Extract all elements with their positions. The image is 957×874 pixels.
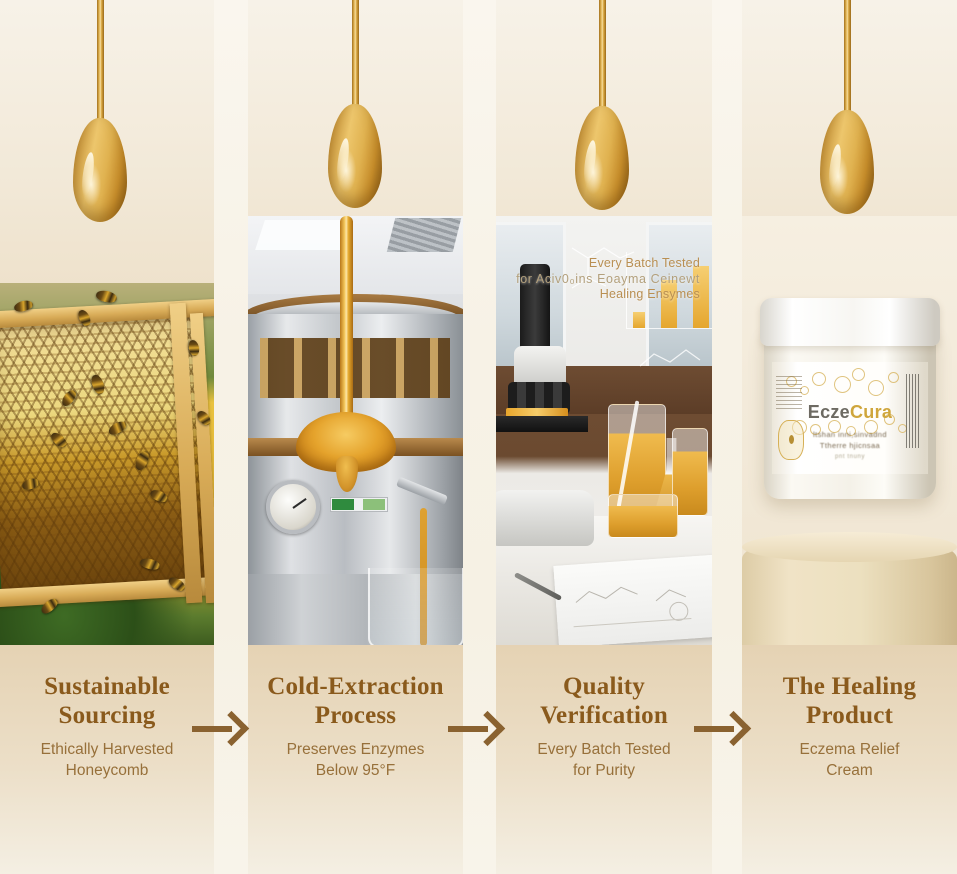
overlay-line-1: Every Batch Tested — [496, 256, 700, 272]
step-2-image-honey-extractor — [248, 216, 463, 645]
level-indicator-green — [332, 499, 354, 510]
step-3-title-line-2: Verification — [496, 701, 712, 730]
honeycomb-bubble — [812, 372, 826, 386]
honey-drip-stem — [599, 0, 606, 120]
step-1-title-line-1: Sustainable — [0, 672, 214, 701]
cream-jar-label: EczeCura ltshan inni,sinvadnd Ttherre hj… — [772, 362, 928, 474]
step-1-caption: Sustainable Sourcing Ethically Harvested… — [0, 672, 214, 781]
step-3-title: Quality Verification — [496, 672, 712, 730]
level-indicator-light — [363, 499, 385, 510]
arrow-head-icon — [470, 711, 505, 746]
step-2-subtitle: Preserves Enzymes Below 95°F — [248, 739, 463, 781]
label-subtext-1: ltshan inni,sinvadnd — [772, 430, 928, 439]
step-1-subtitle-line-1: Ethically Harvested — [0, 739, 214, 760]
infographic-canvas: Every Batch Tested for Aciv0₀ins Eoayma … — [0, 0, 957, 874]
gauge-needle — [292, 498, 306, 509]
overlay-line-2: for Aciv0₀ins Eoayma Ceinewt — [496, 272, 700, 288]
chart-bar — [633, 312, 645, 328]
step-4-title-line-1: The Healing — [742, 672, 957, 701]
step-3-title-line-1: Quality — [496, 672, 712, 701]
step-4-image-product-jar: EczeCura ltshan inni,sinvadnd Ttherre hj… — [742, 216, 957, 645]
step-4-subtitle: Eczema Relief Cream — [742, 739, 957, 781]
glass-collection-beaker — [368, 568, 463, 645]
step-2-title-line-2: Process — [248, 701, 463, 730]
step-3-subtitle: Every Batch Tested for Purity — [496, 739, 712, 781]
step-4-caption: The Healing Product Eczema Relief Cream — [742, 672, 957, 781]
honeycomb-bubble — [852, 368, 865, 381]
step-3-caption: Quality Verification Every Batch Tested … — [496, 672, 712, 781]
step-1-image-honeycomb-frame — [0, 283, 214, 645]
brand-part-2: Cura — [850, 402, 892, 422]
step-2-title-line-1: Cold-Extraction — [248, 672, 463, 701]
cream-jar-lid — [760, 298, 940, 346]
honey-drip-stem — [97, 0, 104, 132]
lab-notebook — [553, 554, 712, 645]
bee-icon — [95, 289, 118, 304]
molecule-diagram-secondary-icon — [634, 336, 704, 386]
step-1-title-line-2: Sourcing — [0, 701, 214, 730]
honey-drip-stem — [352, 0, 359, 116]
step-4-title: The Healing Product — [742, 672, 957, 730]
brand-part-1: Ecze — [808, 402, 850, 422]
flow-arrow-3-to-4 — [694, 712, 752, 746]
honeycomb-frames-inside — [260, 338, 450, 398]
pedestal-top-surface — [742, 532, 957, 562]
pressure-gauge-icon — [266, 480, 320, 534]
step-3-subtitle-line-2: for Purity — [496, 760, 712, 781]
flow-arrow-1-to-2 — [192, 712, 250, 746]
honey-drip-stem — [844, 0, 851, 124]
step-3-image-laboratory: Every Batch Tested for Aciv0₀ins Eoayma … — [496, 216, 712, 645]
notebook-sketch — [564, 563, 708, 635]
overlay-line-3: Healing Ensymes — [496, 287, 700, 303]
honeycomb-bubble — [834, 376, 851, 393]
honeycomb-bubble — [888, 372, 899, 383]
flow-arrow-2-to-3 — [448, 712, 506, 746]
label-subtext-2: Ttherre hjicnsaa — [772, 441, 928, 450]
skylight — [255, 220, 353, 250]
step-2-subtitle-line-2: Below 95°F — [248, 760, 463, 781]
arrow-head-icon — [716, 711, 751, 746]
arrow-head-icon — [214, 711, 249, 746]
step-4-subtitle-line-2: Cream — [742, 760, 957, 781]
microscope-stage — [496, 416, 588, 432]
step-2-subtitle-line-1: Preserves Enzymes — [248, 739, 463, 760]
step-2-title: Cold-Extraction Process — [248, 672, 463, 730]
step-1-subtitle: Ethically Harvested Honeycomb — [0, 739, 214, 781]
honey-column — [340, 216, 353, 434]
product-brand-name: EczeCura — [772, 402, 928, 423]
step-2-caption: Cold-Extraction Process Preserves Enzyme… — [248, 672, 463, 781]
step-1-subtitle-line-2: Honeycomb — [0, 760, 214, 781]
image-overlay-text: Every Batch Tested for Aciv0₀ins Eoayma … — [496, 256, 712, 303]
step-4-title-line-2: Product — [742, 701, 957, 730]
ceiling-vent — [387, 218, 461, 252]
step-3-subtitle-line-1: Every Batch Tested — [496, 739, 712, 760]
level-indicator — [330, 497, 388, 512]
honeycomb-bubble — [868, 380, 884, 396]
product-pedestal — [742, 533, 957, 645]
microscope-base — [496, 490, 594, 546]
step-4-subtitle-line-1: Eczema Relief — [742, 739, 957, 760]
honey-jar-open — [608, 494, 678, 538]
step-1-title: Sustainable Sourcing — [0, 672, 214, 730]
label-subtext-3: pnt tnuny — [772, 454, 928, 460]
